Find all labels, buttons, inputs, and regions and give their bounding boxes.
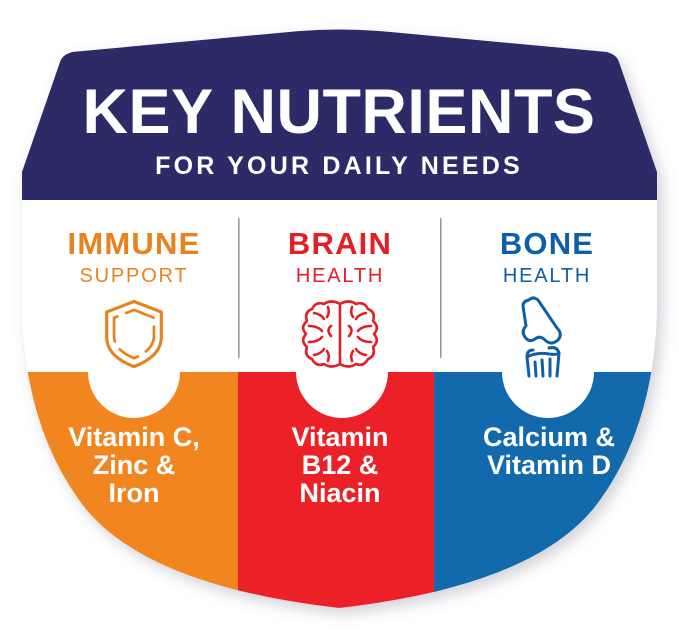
divider-left (238, 218, 240, 358)
column-subtitle-brain: HEALTH (296, 265, 384, 287)
column-title-immune: IMMUNE (68, 226, 201, 261)
shield-badge-graphic: KEY NUTRIENTS FOR YOUR DAILY NEEDS IMMUN… (0, 0, 679, 638)
header-title: KEY NUTRIENTS (83, 77, 596, 147)
panel-text-bone-line-2: Vitamin D (487, 450, 611, 480)
panel-text-bone-line-1: Calcium & (483, 422, 615, 452)
column-subtitle-immune: SUPPORT (80, 265, 189, 287)
column-subtitle-bone: HEALTH (503, 265, 591, 287)
panel-text-brain-line-3: Niacin (299, 478, 380, 508)
divider-right (440, 218, 442, 358)
panel-text-immune-line-2: Zinc & (93, 450, 176, 480)
panel-text-immune-line-3: Iron (109, 478, 160, 508)
column-title-brain: BRAIN (288, 226, 392, 261)
panel-text-brain-line-2: B12 & (302, 450, 379, 480)
panel-text-immune-line-1: Vitamin C, (68, 422, 200, 452)
column-title-bone: BONE (500, 226, 594, 261)
key-nutrients-infographic: KEY NUTRIENTS FOR YOUR DAILY NEEDS IMMUN… (0, 0, 679, 638)
header-subtitle: FOR YOUR DAILY NEEDS (155, 152, 523, 180)
panel-text-brain-line-1: Vitamin (291, 422, 388, 452)
